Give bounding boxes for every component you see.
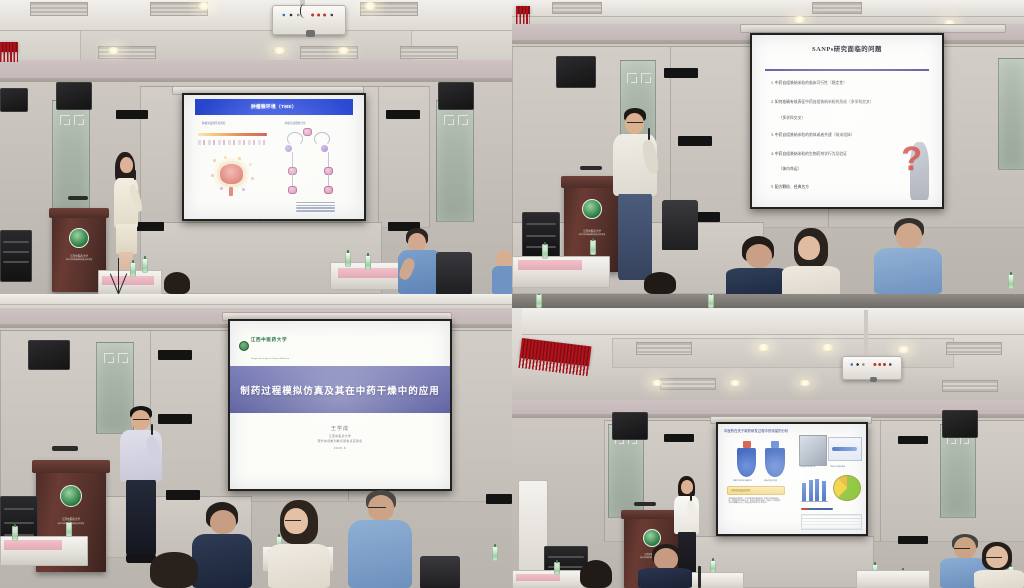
data-table (801, 514, 862, 530)
meander-motif-icon (118, 353, 128, 363)
water-bottle (590, 240, 596, 255)
av-equipment-rack (0, 230, 32, 282)
presenter-affiliation-2: 现代中药制剂教育部重点实验室 (230, 439, 450, 443)
audience-torso (268, 544, 330, 588)
ceiling-downlight (792, 16, 807, 23)
camera-tripod (108, 258, 130, 294)
bar-chart (802, 472, 826, 501)
slide-title-band: 制药过程模拟仿真及其在中药干燥中的应用 (230, 366, 450, 413)
slide-arrow-arc (287, 132, 303, 146)
photo-panel-bottom-left: 江西中医药大学 Jiangxi University of Chinese Me… (0, 294, 512, 588)
wall-accent-strip (664, 68, 698, 78)
projector-mount (864, 310, 868, 358)
water-bottle (708, 294, 714, 308)
university-emblem-icon (239, 341, 249, 351)
slide-list-item: 1. 中药自组装纳米粒的临床可行性（稳定性） (771, 81, 925, 86)
presenter-head (120, 157, 133, 173)
meander-motif-icon (74, 115, 84, 125)
ceiling-downlight (106, 47, 121, 54)
water-bottle (536, 294, 542, 308)
university-logo: 江西中医药大学 Jiangxi University of Chinese Me… (239, 328, 289, 364)
lectern-label-line1: 江西中医药大学 (70, 255, 88, 258)
projection-screen-casing (740, 24, 1006, 33)
slide-title-rule (765, 69, 928, 70)
ceiling-vent (30, 2, 88, 16)
university-crest-icon (69, 228, 89, 248)
slide-column-label-left: 肿瘤免疫微环境调控 (202, 121, 225, 125)
water-bottle (66, 522, 72, 537)
equipment-photograph (799, 435, 826, 466)
slide-tumor-illustration (220, 164, 243, 184)
wall-accent-strip (898, 436, 928, 444)
lectern-label-line1: 江西中医药大学 (583, 230, 601, 233)
decorative-glass-panel (52, 100, 90, 222)
water-bottle (542, 244, 548, 259)
projection-screen-frame: SANPs研究面临的问题 1. 中药自组装纳米粒的临床可行性（稳定性） 2. 如… (750, 33, 944, 209)
audience-hair (644, 272, 676, 294)
lectern-label: 江西中医药大学 现代中药制剂教育部重点实验室 (579, 230, 605, 238)
slide-title: 中医药在关于新药研发过程中药用量的分析 (724, 428, 788, 433)
upper-row-strip (512, 294, 1024, 308)
ceiling-slab (0, 294, 512, 305)
question-mark-icon: ? (891, 118, 933, 201)
wall-speaker (942, 410, 978, 438)
audience-table (856, 570, 930, 588)
red-tassel-decoration (0, 42, 18, 52)
slide-title: 制药过程模拟仿真及其在中药干燥中的应用 (240, 383, 440, 397)
lectern-top (49, 208, 109, 218)
water-bottle (492, 546, 498, 561)
presenter-jeans (618, 194, 652, 280)
ceiling-vent (400, 46, 458, 59)
presenter-name: 王学成 (230, 425, 450, 432)
slide-sanps-questions: SANPs研究面临的问题 1. 中药自组装纳米粒的临床可行性（稳定性） 2. 如… (752, 35, 942, 207)
podium-microphone (68, 196, 88, 200)
glasses-icon (133, 419, 149, 421)
audience-chair (436, 252, 472, 294)
audience-chair (420, 556, 460, 588)
projector-lens (306, 30, 315, 37)
water-bottle (365, 255, 371, 270)
slide-legend (296, 202, 336, 212)
audience-person (148, 552, 202, 588)
lectern-label-line2: 现代中药制剂教育部重点实验室 (66, 259, 92, 261)
lectern-label-line2: 现代中药制剂教育部重点实验室 (579, 234, 605, 236)
audience-head (210, 510, 236, 534)
audience-torso (782, 266, 840, 294)
meander-motif-icon (444, 115, 454, 125)
audience-person (492, 250, 512, 294)
table-runner (518, 260, 582, 270)
slide-cell-dot (251, 177, 254, 180)
slide-tme: 肿瘤微环境（TME） 肿瘤免疫微环境调控 肿瘤免疫细胞分化 (184, 95, 364, 219)
flask-cap-red-icon (743, 441, 750, 449)
ceiling-downlight (272, 47, 287, 54)
glasses-icon (368, 507, 386, 509)
lectern-label-line1: 江西中医药大学 (62, 518, 80, 521)
water-bottle (345, 252, 351, 267)
glasses-icon (285, 520, 301, 522)
ceiling-downlight (650, 380, 664, 386)
ceiling-downlight (756, 344, 771, 351)
audience-head (896, 223, 922, 249)
ceiling-vent (946, 342, 1002, 355)
bar (822, 481, 826, 501)
audience-torso (638, 568, 692, 588)
water-bottle (1008, 274, 1014, 289)
ceiling-vent (636, 342, 692, 355)
flask-icon (765, 448, 784, 477)
flask-cap-blue-icon (771, 441, 778, 449)
section-label: 中药研究面临的现状 (731, 488, 751, 492)
lecture-hall-room: SANPs研究面临的问题 1. 中药自组装纳米粒的临床可行性（稳定性） 2. 如… (512, 0, 1024, 294)
lecture-hall-room: 肿瘤微环境（TME） 肿瘤免疫微环境调控 肿瘤免疫细胞分化 (0, 0, 512, 294)
lecture-hall-room: 中医药在关于新药研发过程中药用量的分析 传统工艺存在不确定性 模拟仿真可预测 中… (512, 294, 1024, 588)
chart-caption-left: 干燥设备内部流场分布 (799, 466, 815, 468)
audience-torso (492, 266, 512, 294)
audience-head (654, 548, 678, 570)
slide-date: 2025.6 (230, 446, 450, 450)
pie-chart (833, 475, 860, 501)
decorative-glass-panel (940, 424, 976, 518)
ceiling-vent (660, 378, 716, 390)
photo-collage: 肿瘤微环境（TME） 肿瘤免疫微环境调控 肿瘤免疫细胞分化 (0, 0, 1024, 588)
ceiling-downlight (820, 344, 835, 351)
handheld-microphone (151, 424, 153, 435)
ceiling-downlight (728, 380, 742, 386)
lectern-top (32, 460, 110, 473)
table-runner (516, 574, 560, 581)
photo-panel-top-right: SANPs研究面临的问题 1. 中药自组装纳米粒的临床可行性（稳定性） 2. 如… (512, 0, 1024, 294)
meander-motif-icon (60, 115, 70, 125)
wall-speaker (0, 88, 28, 112)
table-runner (4, 540, 62, 550)
audience-person (160, 272, 194, 294)
podium-microphone (52, 446, 78, 451)
meander-motif-icon (458, 115, 468, 125)
wall-speaker (28, 340, 70, 370)
wall-accent-strip (486, 494, 512, 504)
ceiling-projector (842, 356, 902, 380)
wall-accent-strip (116, 110, 148, 119)
ceiling-downlight (196, 2, 212, 10)
wall-speaker (556, 56, 596, 88)
ceiling-downlight (798, 380, 812, 386)
photo-panel-bottom-right: 中医药在关于新药研发过程中药用量的分析 传统工艺存在不确定性 模拟仿真可预测 中… (512, 294, 1024, 588)
slide-node (285, 145, 292, 152)
wall-accent-strip (166, 490, 200, 500)
audience-torso (874, 248, 942, 294)
slide-cell-dot (211, 174, 214, 177)
meander-motif-icon (627, 73, 637, 83)
ceiling-downlight (896, 346, 911, 353)
slide-title-page: 江西中医药大学 Jiangxi University of Chinese Me… (230, 321, 450, 489)
flask-caption-right: 模拟仿真可预测 (764, 479, 777, 482)
audience-torso (348, 520, 412, 588)
floor-microphone (698, 566, 701, 588)
handheld-microphone (648, 128, 650, 140)
ceiling-vent (812, 2, 862, 14)
audience-person (974, 542, 1024, 588)
glasses-icon (954, 548, 970, 550)
meander-motif-icon (641, 73, 651, 83)
audience-person (348, 490, 414, 588)
projector-cable (300, 4, 311, 18)
slide-cell-dot (213, 159, 216, 162)
process-schematic (828, 437, 863, 461)
bar (815, 479, 819, 501)
bar-chart-axis (801, 501, 828, 502)
audience-hair (150, 552, 198, 588)
audience-hair (580, 560, 612, 588)
flask-icon (737, 448, 756, 477)
podium-microphone (634, 502, 656, 506)
slide-connector (328, 173, 329, 185)
slide-list-item: 2. 如何准确有效表征中药自组装纳米粒的形成（多学科交叉） (771, 100, 925, 105)
av-equipment-rack (522, 212, 560, 260)
water-bottle (554, 562, 560, 575)
university-crest-icon (60, 485, 82, 507)
presenter-trousers (126, 480, 156, 556)
folding-chair (662, 200, 698, 250)
slide-data-charts: 中医药在关于新药研发过程中药用量的分析 传统工艺存在不确定性 模拟仿真可预测 中… (718, 424, 866, 534)
glasses-icon (627, 122, 643, 124)
slide-cell-dot (249, 163, 252, 166)
podium-microphone (580, 166, 602, 170)
wall-speaker (438, 82, 474, 110)
audience-head (798, 236, 820, 260)
slide-stem (229, 187, 233, 196)
handheld-microphone (134, 170, 136, 180)
slide-cell-chain (198, 140, 266, 145)
meander-motif-icon (104, 353, 114, 363)
presenter-person (118, 406, 170, 566)
flask-caption-left: 传统工艺存在不确定性 (733, 479, 752, 482)
university-name-en: Jiangxi University of Chinese Medicine (251, 358, 289, 360)
water-bottle (12, 526, 18, 541)
audience-hair (164, 272, 190, 294)
audience-person (780, 228, 842, 294)
audience-person (638, 544, 694, 588)
bar (809, 480, 813, 501)
wall-speaker (612, 412, 648, 440)
university-name-cn: 江西中医药大学 (251, 337, 287, 342)
glasses-icon (986, 557, 1002, 559)
slide-title: 肿瘤微环境（TME） (195, 99, 353, 115)
slide-node (324, 186, 333, 194)
lecture-hall-room: 江西中医药大学 Jiangxi University of Chinese Me… (0, 294, 512, 588)
handheld-microphone (690, 492, 692, 501)
audience-person (640, 272, 680, 294)
water-bottle (142, 258, 148, 273)
water-bottle (130, 262, 136, 277)
ceiling-vent (942, 380, 998, 392)
slide-connector (328, 152, 329, 167)
wall-speaker (56, 82, 92, 110)
slide-connector (292, 152, 293, 167)
projection-screen-frame: 肿瘤微环境（TME） 肿瘤免疫微环境调控 肿瘤免疫细胞分化 (182, 93, 366, 221)
bar (802, 483, 806, 501)
audience-torso (974, 570, 1024, 588)
presenter-affiliation-1: 江西中医药大学 (230, 434, 450, 438)
slide-title: SANPs研究面临的问题 (752, 44, 942, 53)
projector-indicator-lights (848, 361, 897, 368)
slide-node (288, 186, 297, 194)
projection-screen-frame: 江西中医药大学 Jiangxi University of Chinese Me… (228, 319, 452, 491)
presenter-person (608, 108, 668, 294)
audience-person (268, 500, 332, 588)
chart-legend (801, 508, 834, 511)
wall-accent-strip (664, 434, 694, 442)
decorative-glass-panel (998, 58, 1024, 170)
slide-cell-dot (242, 188, 245, 191)
slide-body-text: 中药制药过程复杂，工艺参数难以精确控制，影响产品质量稳定性；现有研究以经验为主，… (728, 498, 781, 505)
slide-connector (292, 173, 293, 185)
audience-head (746, 244, 772, 268)
wall-accent-strip (678, 136, 712, 146)
presenter-skirt (116, 224, 137, 254)
slide-cell-dot (220, 187, 223, 190)
chart-caption-right: 物料含水率变化曲线 (830, 466, 844, 468)
ceiling-slab (522, 308, 1024, 335)
section-label-banner: 中药研究面临的现状 (727, 486, 785, 496)
slide-presenter-block: 王学成 江西中医药大学 现代中药制剂教育部重点实验室 2025.6 (230, 425, 450, 450)
wall-accent-strip (386, 110, 420, 119)
university-crest-icon (582, 199, 602, 219)
wall-panel (378, 86, 430, 228)
ceiling-downlight (336, 47, 351, 54)
ceiling-downlight (362, 2, 378, 10)
slide-column-label-right: 肿瘤免疫细胞分化 (285, 121, 306, 125)
decorative-glass-panel (436, 100, 474, 222)
slide-cell-dot (224, 156, 227, 159)
wall-accent-strip (158, 350, 192, 360)
slide-cell-dot (238, 157, 241, 160)
ceiling-vent (552, 2, 602, 14)
slide-arrow-arc (314, 132, 330, 146)
audience-person (874, 218, 944, 294)
audience-person (574, 560, 620, 588)
lectern-label: 江西中医药大学 现代中药制剂教育部重点实验室 (66, 255, 92, 263)
wall-accent-strip (898, 536, 928, 544)
photo-panel-top-left: 肿瘤微环境（TME） 肿瘤免疫微环境调控 肿瘤免疫细胞分化 (0, 0, 512, 294)
slide-node (303, 128, 312, 136)
slide-gradient-bar (198, 133, 266, 136)
red-tassel-decoration (516, 6, 530, 14)
projector-lens (870, 377, 877, 382)
projection-screen-frame: 中医药在关于新药研发过程中药用量的分析 传统工艺存在不确定性 模拟仿真可预测 中… (716, 422, 868, 536)
